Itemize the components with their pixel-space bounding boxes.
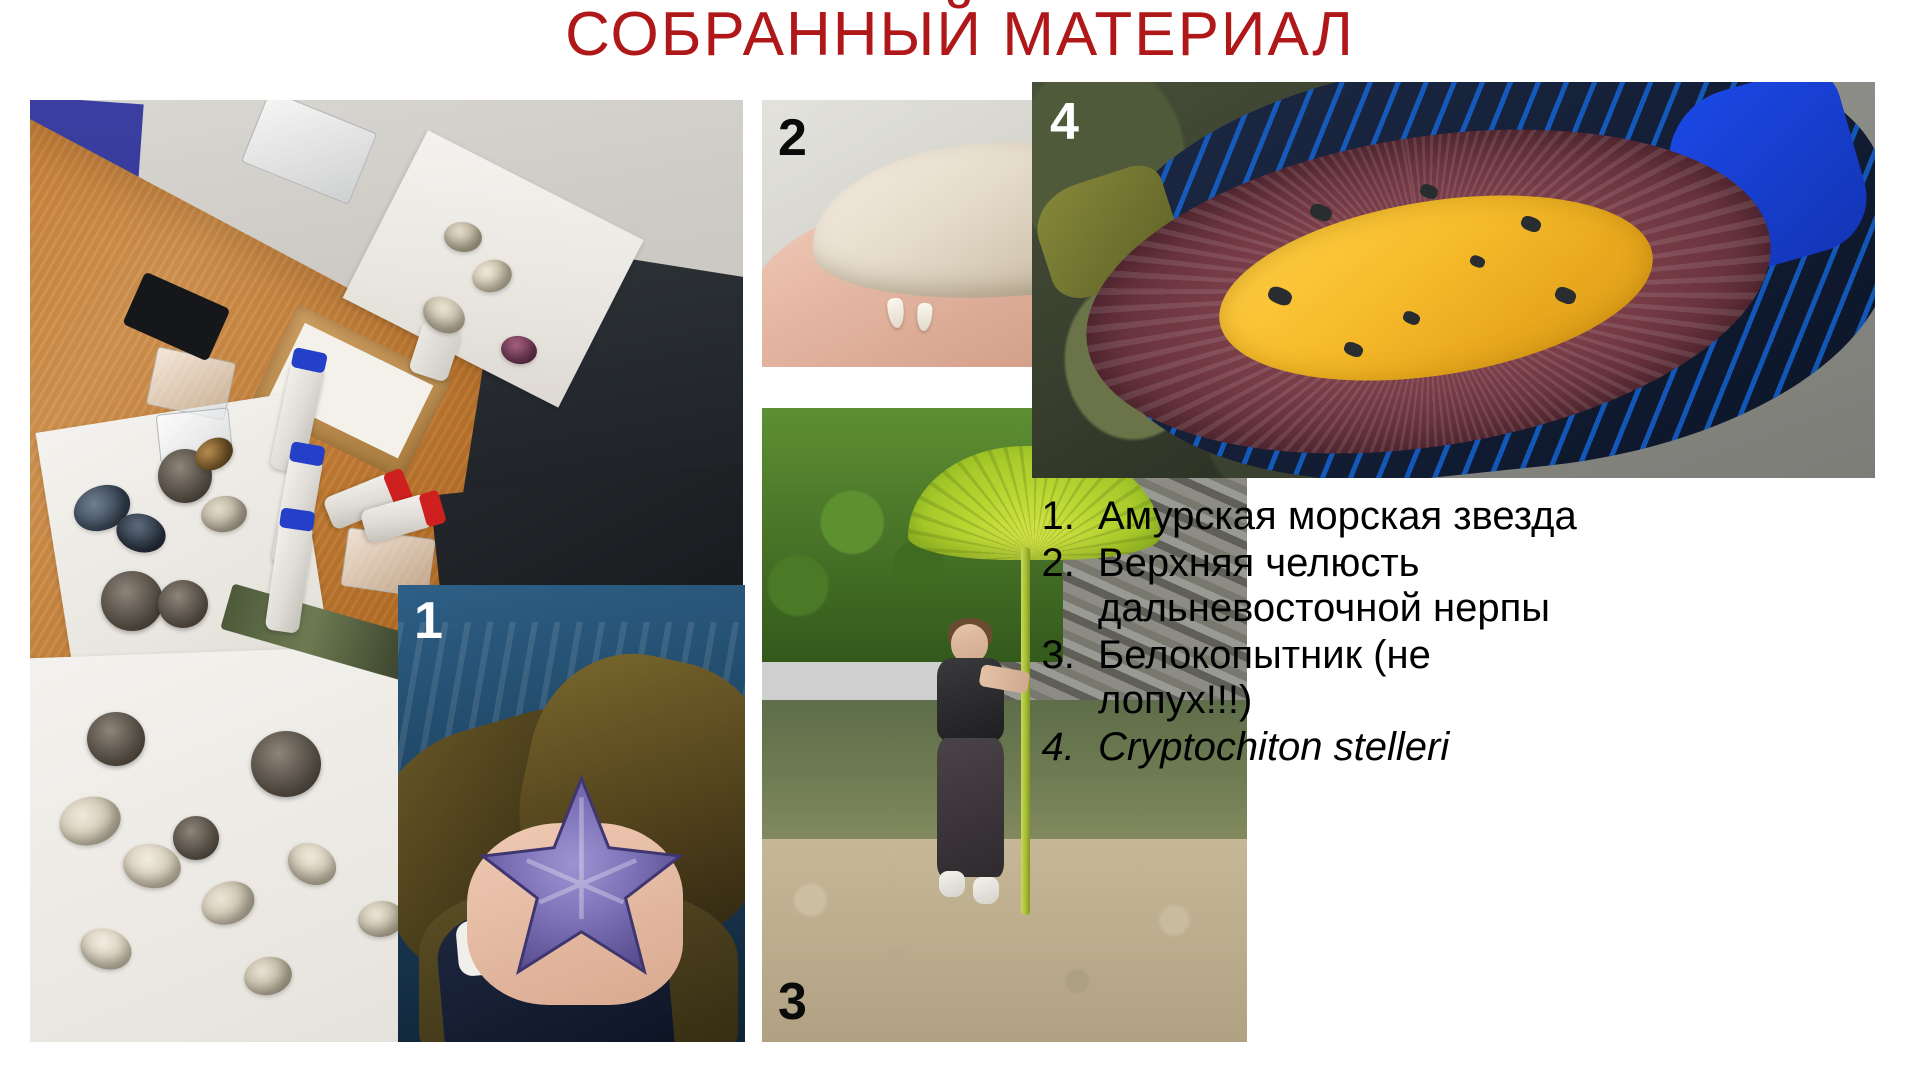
photo-sea-star[interactable]: 1 <box>398 585 745 1042</box>
person-shoe-left <box>939 871 965 898</box>
sea-star-body <box>460 772 703 982</box>
person-head <box>951 624 988 663</box>
legend-item-2: Верхняя челюсть дальневосточной нерпы <box>1086 541 1592 632</box>
legend-ordered-list: Амурская морская звезда Верхняя челюсть … <box>1032 494 1592 771</box>
legend-item-3-text: Белокопытник (не лопух!!!) <box>1098 633 1431 723</box>
legend-item-4: Cryptochiton stelleri <box>1086 725 1592 771</box>
legend-item-4-text: Cryptochiton stelleri <box>1098 725 1449 769</box>
chiton-scene <box>1032 82 1875 478</box>
lab-vial-cap-blue-3 <box>279 507 315 532</box>
sea-star-scene <box>398 585 745 1042</box>
photo-badge-2: 2 <box>778 112 807 164</box>
photo-cryptochiton[interactable]: 4 <box>1032 82 1875 478</box>
photo-badge-1: 1 <box>414 595 443 647</box>
gravel-bank <box>762 839 1247 1042</box>
lab-urchin-5 <box>251 731 321 797</box>
legend-list: Амурская морская звезда Верхняя челюсть … <box>1032 494 1592 772</box>
lab-urchin-4 <box>87 712 145 766</box>
slide-canvas: СОБРАННЫЙ МАТЕРИАЛ <box>0 0 1920 1080</box>
person-shoe-right <box>973 877 999 904</box>
butterbur-stem <box>1021 547 1030 915</box>
lab-urchin-2 <box>101 571 163 631</box>
legend-item-1-text: Амурская морская звезда <box>1098 494 1577 538</box>
photo-badge-4: 4 <box>1050 96 1079 148</box>
photo-badge-3: 3 <box>778 976 807 1028</box>
lab-urchin-6 <box>173 816 219 860</box>
legend-item-2-text: Верхняя челюсть дальневосточной нерпы <box>1098 541 1550 631</box>
legend-item-3: Белокопытник (не лопух!!!) <box>1086 633 1592 724</box>
page-title: СОБРАННЫЙ МАТЕРИАЛ <box>0 2 1920 67</box>
legend-item-1: Амурская морская звезда <box>1086 494 1592 540</box>
person-trousers <box>937 738 1005 877</box>
